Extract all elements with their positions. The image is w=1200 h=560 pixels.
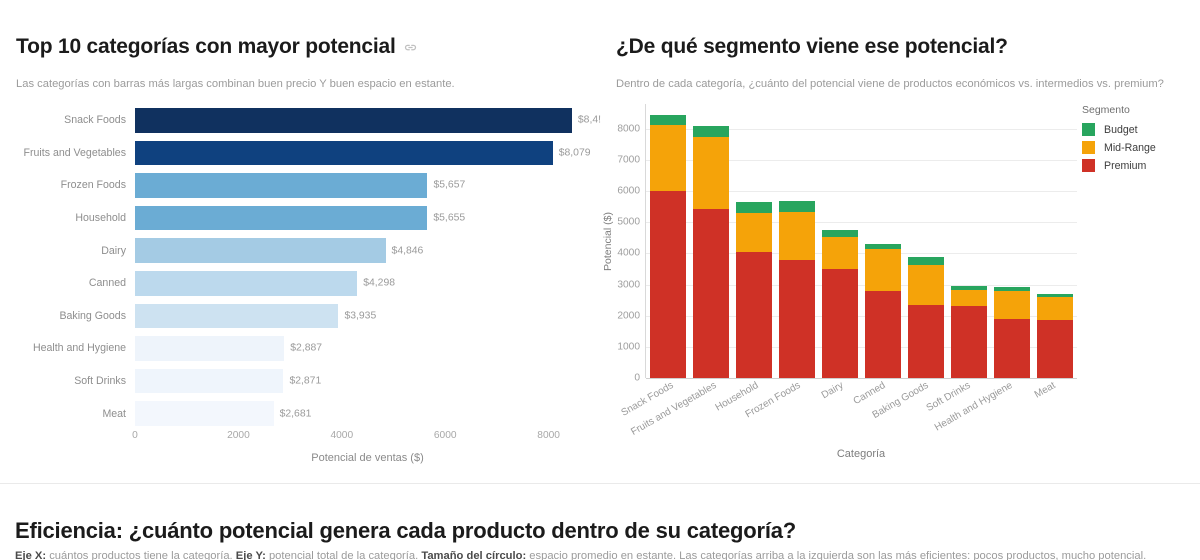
sbar-column[interactable] xyxy=(908,104,944,378)
hbar-fill[interactable] xyxy=(135,369,283,394)
sbar-segment-premium[interactable] xyxy=(650,191,686,378)
page-title: Top 10 categorías con mayor potencial xyxy=(16,35,584,59)
hbar-category-label: Household xyxy=(0,212,135,224)
hbar-track: $5,655 xyxy=(135,202,600,235)
sbar-column[interactable] xyxy=(1037,104,1073,378)
sbar-segment-mid-range[interactable] xyxy=(994,291,1030,319)
sbar-segment-premium[interactable] xyxy=(908,305,944,378)
hbar-row[interactable]: Canned$4,298 xyxy=(0,267,600,300)
link-icon[interactable] xyxy=(403,40,418,55)
panel-top-categories: Top 10 categorías con mayor potencial La… xyxy=(0,0,600,483)
hbar-category-label: Dairy xyxy=(0,245,135,257)
legend: Segmento BudgetMid-RangePremium xyxy=(1082,104,1197,177)
caption-text: espacio promedio en estante. Las categor… xyxy=(526,550,1146,560)
sbar-column[interactable] xyxy=(650,104,686,378)
caption-emphasis: Eje Y: xyxy=(236,550,266,560)
left-panel-header: Top 10 categorías con mayor potencial La… xyxy=(0,0,600,92)
hbar-fill[interactable] xyxy=(135,108,572,133)
hbar-value-label: $3,935 xyxy=(338,310,376,321)
right-panel-title: ¿De qué segmento viene ese potencial? xyxy=(616,35,1184,59)
hbar-track: $5,657 xyxy=(135,169,600,202)
sbar-y-tick: 7000 xyxy=(617,155,640,166)
hbar-value-label: $5,657 xyxy=(427,180,465,191)
right-panel-subtitle: Dentro de cada categoría, ¿cuánto del po… xyxy=(616,77,1184,92)
hbar-row[interactable]: Soft Drinks$2,871 xyxy=(0,365,600,398)
sbar-y-axis-label: Potencial ($) xyxy=(602,212,614,271)
right-panel-header: ¿De qué segmento viene ese potencial? De… xyxy=(600,0,1200,92)
efficiency-caption: Eje X: cuántos productos tiene la catego… xyxy=(15,549,1190,560)
sbar-column[interactable] xyxy=(779,104,815,378)
hbar-x-axis: 02000400060008000 Potencial de ventas ($… xyxy=(135,430,600,470)
hbar-row[interactable]: Frozen Foods$5,657 xyxy=(0,169,600,202)
hbar-row[interactable]: Meat$2,681 xyxy=(0,397,600,430)
sbar-y-tick: 0 xyxy=(634,373,640,384)
stacked-bar-chart: Potencial ($) 01000200030004000500060007… xyxy=(600,96,1200,486)
sbar-column[interactable] xyxy=(951,104,987,378)
sbar-segment-mid-range[interactable] xyxy=(736,213,772,252)
hbar-fill[interactable] xyxy=(135,206,427,231)
hbar-track: $3,935 xyxy=(135,300,600,333)
sbar-column[interactable] xyxy=(822,104,858,378)
section-divider xyxy=(0,483,1200,484)
hbar-track: $2,871 xyxy=(135,365,600,398)
hbar-category-label: Fruits and Vegetables xyxy=(0,147,135,159)
sbar-segment-budget[interactable] xyxy=(908,257,944,265)
sbar-y-tick: 6000 xyxy=(617,186,640,197)
sbar-segment-budget[interactable] xyxy=(736,202,772,213)
sbar-column[interactable] xyxy=(994,104,1030,378)
legend-item-budget[interactable]: Budget xyxy=(1082,123,1197,136)
sbar-segment-mid-range[interactable] xyxy=(1037,297,1073,320)
sbar-x-tick-label: Canned xyxy=(852,380,888,407)
hbar-row[interactable]: Fruits and Vegetables$8,079 xyxy=(0,137,600,170)
caption-emphasis: Tamaño del círculo: xyxy=(421,550,526,560)
hbar-value-label: $4,298 xyxy=(357,278,395,289)
sbar-segment-mid-range[interactable] xyxy=(822,237,858,269)
sbar-column[interactable] xyxy=(693,104,729,378)
left-panel-title-text: Top 10 categorías con mayor potencial xyxy=(16,35,396,59)
hbar-track: $8,079 xyxy=(135,137,600,170)
hbar-x-tick: 6000 xyxy=(434,430,457,441)
hbar-track: $8,4! xyxy=(135,104,600,137)
hbar-category-label: Health and Hygiene xyxy=(0,342,135,354)
hbar-x-tick: 4000 xyxy=(330,430,353,441)
sbar-segment-mid-range[interactable] xyxy=(693,137,729,209)
hbar-fill[interactable] xyxy=(135,173,427,198)
legend-item-mid-range[interactable]: Mid-Range xyxy=(1082,141,1197,154)
hbar-fill[interactable] xyxy=(135,304,338,329)
hbar-fill[interactable] xyxy=(135,238,386,263)
sbar-x-axis-label: Categoría xyxy=(645,448,1077,460)
hbar-category-label: Soft Drinks xyxy=(0,375,135,387)
sbar-segment-mid-range[interactable] xyxy=(908,265,944,304)
sbar-segment-premium[interactable] xyxy=(951,306,987,378)
legend-swatch xyxy=(1082,141,1095,154)
hbar-x-tick: 0 xyxy=(132,430,138,441)
hbar-fill[interactable] xyxy=(135,336,284,361)
right-panel-title-text: ¿De qué segmento viene ese potencial? xyxy=(616,35,1008,59)
sbar-x-tick-label: Dairy xyxy=(820,380,846,401)
sbar-segment-mid-range[interactable] xyxy=(865,249,901,291)
sbar-segment-budget[interactable] xyxy=(693,126,729,137)
legend-items: BudgetMid-RangePremium xyxy=(1082,123,1197,172)
hbar-value-label: $2,681 xyxy=(274,408,312,419)
legend-label: Premium xyxy=(1104,160,1146,172)
sbar-gridline: 0 xyxy=(646,378,1077,379)
hbar-value-label: $8,079 xyxy=(553,147,591,158)
caption-emphasis: Eje X: xyxy=(15,550,46,560)
hbar-category-label: Frozen Foods xyxy=(0,179,135,191)
sbar-x-tick-labels: Snack FoodsFruits and VegetablesHousehol… xyxy=(645,380,1077,450)
sbar-y-tick: 4000 xyxy=(617,248,640,259)
efficiency-title: Eficiencia: ¿cuánto potencial genera cad… xyxy=(15,518,796,544)
hbar-value-label: $2,871 xyxy=(283,376,321,387)
hbar-value-label: $5,655 xyxy=(427,213,465,224)
hbar-track: $2,681 xyxy=(135,397,600,430)
sbar-plot-area: 010002000300040005000600070008000 xyxy=(645,104,1077,378)
panel-efficiency: Eficiencia: ¿cuánto potencial genera cad… xyxy=(0,483,1200,560)
hbar-row[interactable]: Snack Foods$8,4! xyxy=(0,104,600,137)
legend-swatch xyxy=(1082,123,1095,136)
left-panel-subtitle: Las categorías con barras más largas com… xyxy=(16,77,584,92)
hbar-track: $4,846 xyxy=(135,234,600,267)
hbar-fill[interactable] xyxy=(135,401,274,426)
hbar-fill[interactable] xyxy=(135,271,357,296)
sbar-x-tick-label: Health and Hygiene xyxy=(933,380,1015,433)
sbar-segment-mid-range[interactable] xyxy=(779,212,815,260)
hbar-value-label: $8,4! xyxy=(572,115,601,126)
sbar-bar-columns xyxy=(646,104,1077,378)
sbar-segment-budget[interactable] xyxy=(779,201,815,212)
legend-label: Mid-Range xyxy=(1104,142,1156,154)
hbar-track: $2,887 xyxy=(135,332,600,365)
horizontal-bar-rows: Snack Foods$8,4!Fruits and Vegetables$8,… xyxy=(0,104,600,430)
hbar-category-label: Snack Foods xyxy=(0,114,135,126)
sbar-y-tick: 1000 xyxy=(617,341,640,352)
sbar-column[interactable] xyxy=(865,104,901,378)
sbar-segment-premium[interactable] xyxy=(693,209,729,378)
hbar-category-label: Meat xyxy=(0,408,135,420)
hbar-x-tick: 2000 xyxy=(227,430,250,441)
sbar-segment-mid-range[interactable] xyxy=(650,125,686,191)
caption-text: potencial total de la categoría. xyxy=(266,550,421,560)
sbar-segment-premium[interactable] xyxy=(736,252,772,378)
legend-title: Segmento xyxy=(1082,104,1197,116)
hbar-x-axis-label: Potencial de ventas ($) xyxy=(135,452,600,464)
hbar-value-label: $2,887 xyxy=(284,343,322,354)
hbar-row[interactable]: Baking Goods$3,935 xyxy=(0,300,600,333)
sbar-y-tick: 2000 xyxy=(617,310,640,321)
caption-text: cuántos productos tiene la categoría. xyxy=(46,550,236,560)
hbar-category-label: Canned xyxy=(0,277,135,289)
horizontal-bar-chart: Snack Foods$8,4!Fruits and Vegetables$8,… xyxy=(0,96,600,486)
sbar-y-tick: 8000 xyxy=(617,123,640,134)
legend-label: Budget xyxy=(1104,124,1138,136)
hbar-x-tick: 8000 xyxy=(537,430,560,441)
sbar-segment-premium[interactable] xyxy=(1037,320,1073,378)
sbar-segment-budget[interactable] xyxy=(650,115,686,125)
sbar-y-tick: 3000 xyxy=(617,279,640,290)
sbar-segment-budget[interactable] xyxy=(822,230,858,238)
sbar-segment-premium[interactable] xyxy=(865,291,901,378)
sbar-segment-premium[interactable] xyxy=(994,319,1030,378)
sbar-segment-premium[interactable] xyxy=(822,269,858,378)
hbar-row[interactable]: Household$5,655 xyxy=(0,202,600,235)
hbar-row[interactable]: Dairy$4,846 xyxy=(0,234,600,267)
legend-swatch xyxy=(1082,159,1095,172)
hbar-row[interactable]: Health and Hygiene$2,887 xyxy=(0,332,600,365)
hbar-category-label: Baking Goods xyxy=(0,310,135,322)
sbar-column[interactable] xyxy=(736,104,772,378)
panel-segment-breakdown: ¿De qué segmento viene ese potencial? De… xyxy=(600,0,1200,483)
sbar-x-tick-label: Meat xyxy=(1033,380,1058,401)
sbar-segment-premium[interactable] xyxy=(779,260,815,378)
hbar-value-label: $4,846 xyxy=(386,245,424,256)
sbar-y-tick: 5000 xyxy=(617,217,640,228)
hbar-track: $4,298 xyxy=(135,267,600,300)
dashboard-page: Top 10 categorías con mayor potencial La… xyxy=(0,0,1200,560)
hbar-fill[interactable] xyxy=(135,141,553,166)
legend-item-premium[interactable]: Premium xyxy=(1082,159,1197,172)
sbar-segment-mid-range[interactable] xyxy=(951,290,987,306)
